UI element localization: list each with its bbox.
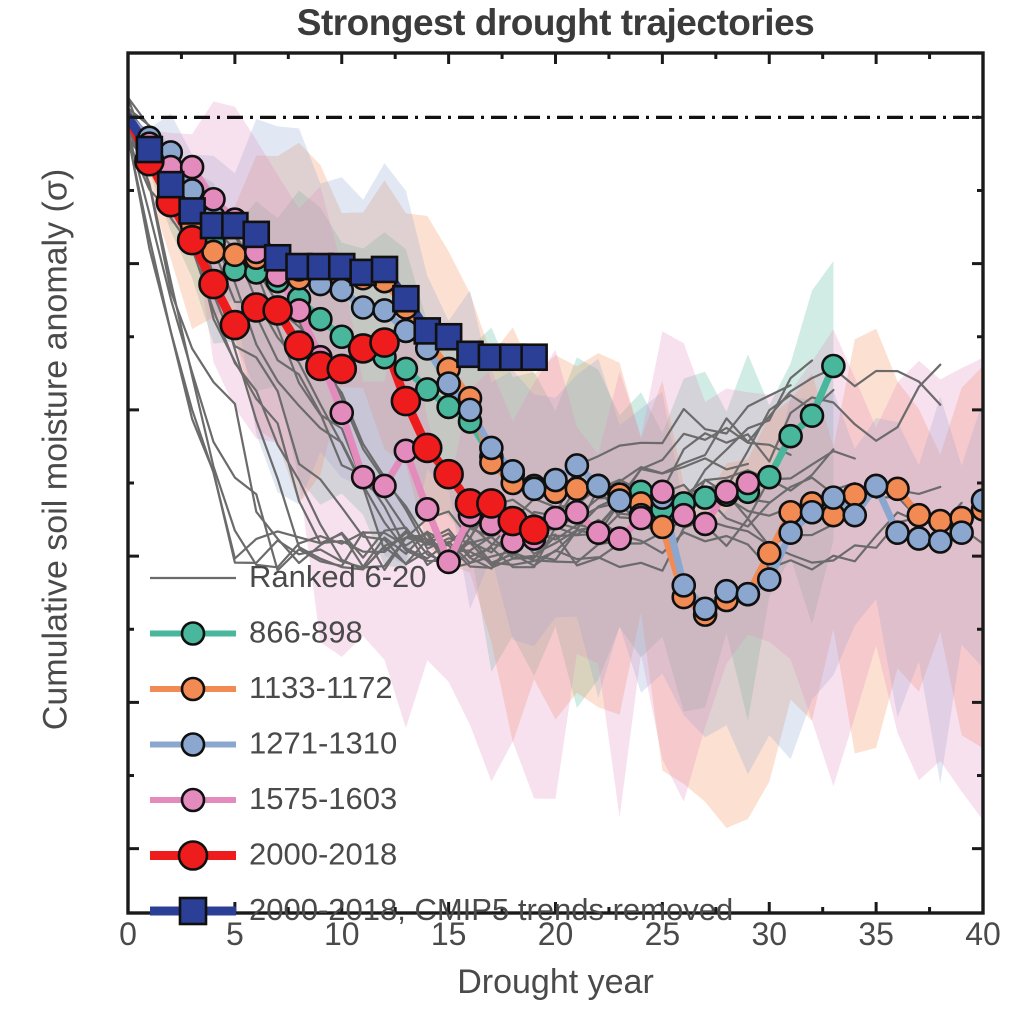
data-point-circle: [737, 472, 759, 494]
x-tick-label: 35: [816, 916, 936, 953]
data-point-circle: [200, 270, 228, 298]
legend-entry: 2000-2018: [150, 837, 397, 872]
data-point-circle: [694, 598, 716, 620]
data-point-circle: [822, 355, 844, 377]
x-tick-label: 15: [389, 916, 509, 953]
data-point-circle: [480, 437, 502, 459]
data-point-square: [158, 172, 183, 197]
data-point-circle: [673, 504, 695, 526]
data-point-circle: [566, 501, 588, 523]
data-point-circle: [716, 481, 738, 503]
data-point-circle: [929, 510, 951, 532]
legend-marker-circle: [182, 623, 204, 645]
data-point-circle: [951, 522, 973, 544]
legend-marker-circle: [179, 842, 207, 870]
data-point-circle: [844, 504, 866, 526]
data-point-circle: [413, 434, 441, 462]
data-point-circle: [395, 358, 417, 380]
legend-entry: 866-898: [150, 615, 363, 650]
data-point-square: [522, 345, 547, 370]
legend-marker-circle: [182, 678, 204, 700]
data-point-circle: [609, 528, 631, 550]
data-point-circle: [352, 466, 374, 488]
data-point-circle: [822, 487, 844, 509]
legend-label: 2000-2018: [249, 837, 397, 872]
legend-label: 1133-1172: [249, 670, 393, 705]
x-tick-label: 40: [923, 916, 1010, 953]
plot-area: Ranked 6-20866-8981133-11721271-13101575…: [0, 0, 1010, 1024]
data-point-circle: [352, 296, 374, 318]
legend-label: Ranked 6-20: [249, 559, 427, 594]
data-point-circle: [780, 501, 802, 523]
legend-marker-circle: [182, 734, 204, 756]
data-point-circle: [801, 405, 823, 427]
x-tick-label: 10: [282, 916, 402, 953]
data-point-square: [393, 286, 418, 311]
data-point-circle: [780, 522, 802, 544]
chart-figure: Strongest drought trajectories Cumulativ…: [0, 0, 1010, 1024]
data-point-circle: [566, 478, 588, 500]
x-tick-label: 5: [175, 916, 295, 953]
data-point-circle: [371, 329, 399, 357]
legend-entry: 1271-1310: [150, 726, 397, 761]
data-point-circle: [651, 516, 673, 538]
data-point-circle: [502, 460, 524, 482]
data-point-circle: [780, 425, 802, 447]
data-point-circle: [801, 501, 823, 523]
data-point-circle: [392, 387, 420, 415]
data-point-square: [137, 137, 162, 162]
x-tick-label: 30: [709, 916, 829, 953]
data-point-circle: [758, 542, 780, 564]
legend-marker-circle: [182, 789, 204, 811]
data-point-circle: [844, 484, 866, 506]
data-point-circle: [908, 528, 930, 550]
data-point-circle: [887, 478, 909, 500]
data-point-circle: [374, 475, 396, 497]
data-point-circle: [673, 574, 695, 596]
data-point-circle: [887, 522, 909, 544]
data-point-square: [244, 222, 269, 247]
data-point-circle: [587, 522, 609, 544]
data-point-square: [372, 257, 397, 282]
x-tick-label: 20: [496, 916, 616, 953]
legend-label: 1271-1310: [249, 726, 397, 761]
data-point-circle: [523, 478, 545, 500]
x-tick-label: 0: [68, 916, 188, 953]
legend-entry: 1133-1172: [150, 670, 393, 705]
data-point-circle: [520, 516, 548, 544]
data-point-circle: [630, 507, 652, 529]
data-point-circle: [331, 402, 353, 424]
data-point-circle: [309, 308, 331, 330]
uncertainty-band-4: [128, 101, 983, 820]
data-point-circle: [908, 504, 930, 526]
data-point-circle: [435, 460, 463, 488]
data-point-circle: [545, 469, 567, 491]
data-point-circle: [737, 583, 759, 605]
data-point-circle: [328, 355, 356, 383]
data-point-circle: [566, 454, 588, 476]
data-point-circle: [716, 580, 738, 602]
clipped-content: [128, 98, 994, 829]
data-point-circle: [929, 531, 951, 553]
data-point-circle: [438, 551, 460, 573]
data-point-circle: [758, 466, 780, 488]
legend-label: 1575-1603: [249, 781, 397, 816]
data-point-circle: [865, 475, 887, 497]
legend-entry: 1575-1603: [150, 781, 397, 816]
data-point-circle: [264, 296, 292, 324]
data-point-circle: [285, 332, 313, 360]
data-point-circle: [651, 481, 673, 503]
legend-label: 866-898: [249, 615, 363, 650]
data-point-circle: [694, 513, 716, 535]
data-point-circle: [459, 399, 481, 421]
data-point-circle: [694, 487, 716, 509]
data-point-circle: [758, 569, 780, 591]
data-point-circle: [587, 475, 609, 497]
data-point-circle: [416, 498, 438, 520]
x-tick-label: 25: [602, 916, 722, 953]
data-point-circle: [438, 396, 460, 418]
legend-entry: Ranked 6-20: [150, 559, 427, 594]
data-point-circle: [609, 490, 631, 512]
data-point-circle: [438, 373, 460, 395]
